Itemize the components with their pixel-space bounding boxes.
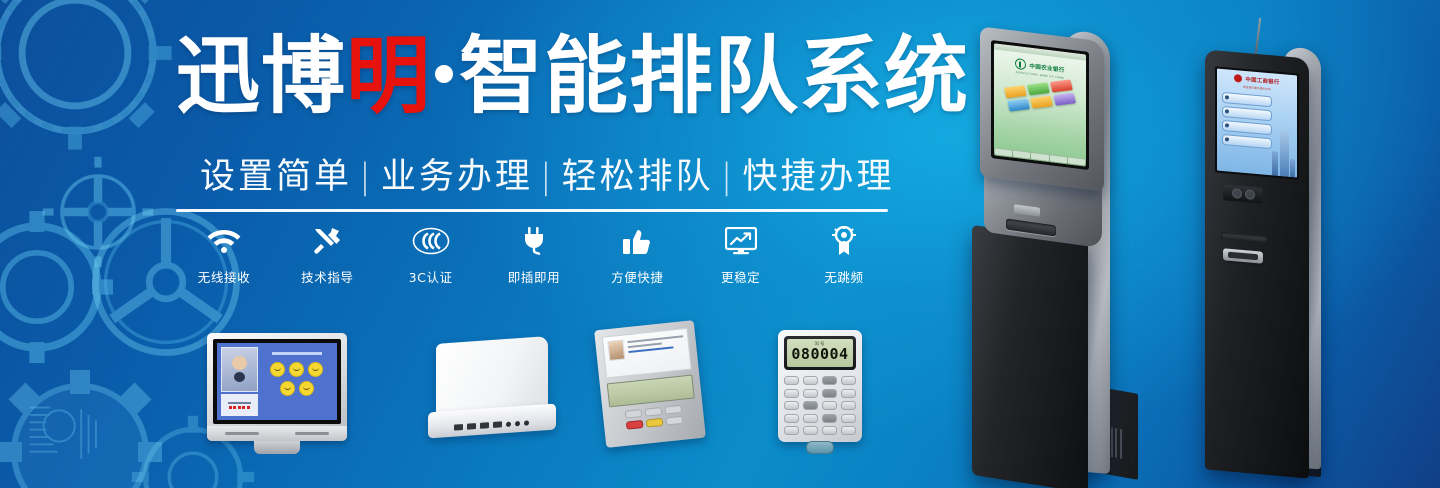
- product-evaluator: [600, 325, 700, 443]
- kiosk-icbc: 中国工商银行 请选择您要办理的业务: [1195, 18, 1385, 488]
- keypad-body: 叫号 080004: [778, 330, 862, 442]
- promo-banner: 迅博明智能排队系统 设置简单|业务办理|轻松排队|快捷办理 无线接收: [0, 0, 1440, 488]
- service-tile: [1004, 85, 1027, 98]
- monitor-rating-panel: [261, 347, 333, 416]
- monitor-nameplate: [221, 394, 258, 416]
- kiosk-menu-item: [1222, 106, 1272, 121]
- service-tile: [1030, 95, 1053, 108]
- monitor-screen-content: [217, 343, 337, 420]
- subtitle-item-2: 轻松排队: [562, 157, 714, 197]
- product-keypad: 叫号 080004: [778, 330, 862, 442]
- avatar: [221, 347, 258, 392]
- keypad-key: [841, 414, 856, 423]
- wifi-icon: [207, 224, 241, 258]
- kiosk-body: [972, 225, 1088, 488]
- evaluator-keypad: [610, 403, 698, 431]
- evaluator-id-card: [602, 328, 692, 379]
- keypad-key: [822, 376, 837, 385]
- keypad-key: [841, 426, 856, 435]
- evaluator-key: [644, 407, 662, 417]
- evaluator-key-yellow: [645, 418, 663, 428]
- keypad-lcd-value: 080004: [791, 347, 848, 363]
- keypad-key: [784, 401, 799, 410]
- smiley-icon: [308, 362, 323, 377]
- subtitle: 设置简单|业务办理|轻松排队|快捷办理: [200, 148, 900, 199]
- plug-icon: [521, 224, 547, 258]
- feature-label: 更稳定: [721, 267, 760, 286]
- feature-item-3c-certification: 3C认证: [383, 224, 479, 286]
- gear-icon: [0, 352, 180, 488]
- router-port: [480, 422, 489, 429]
- bank-name: 中国农业银行: [1029, 61, 1064, 73]
- feature-item-plug-and-play: 即插即用: [486, 224, 582, 286]
- subtitle-separator: |: [359, 157, 374, 197]
- keypad-key: [841, 401, 856, 410]
- subtitle-item-3: 快捷办理: [742, 157, 894, 197]
- bank-logo-mark: [1015, 58, 1026, 70]
- gear-icon: [0, 192, 132, 382]
- feature-label: 3C认证: [409, 267, 453, 286]
- smiley-icon: [289, 362, 304, 377]
- service-tile: [1053, 92, 1076, 105]
- monitor-id-panel: [221, 347, 258, 416]
- router-indicator: [506, 422, 511, 427]
- avatar: [607, 340, 625, 362]
- headline-highlight: 明: [346, 27, 431, 125]
- feature-list: 无线接收 技术指导 3C认证: [176, 224, 892, 290]
- kiosk-screen-content: 中国工商银行 请选择您要办理的业务: [1217, 69, 1297, 178]
- card-reader: [1223, 184, 1263, 203]
- router-port: [493, 421, 502, 428]
- kiosk-service-tiles: [1004, 79, 1076, 111]
- feature-label: 即插即用: [508, 267, 560, 286]
- smiley-icon: [299, 381, 314, 396]
- emoji-face-group: [264, 362, 330, 396]
- router-power-jack: [524, 420, 529, 425]
- kiosk-agricultural-bank: 中国农业银行 AGRICULTURAL BANK OF CHINA: [968, 22, 1168, 488]
- service-tile: [1027, 82, 1050, 95]
- keypad-key: [841, 389, 856, 398]
- bank-logo: 中国工商银行: [1234, 74, 1279, 86]
- antenna-icon: [1255, 18, 1261, 54]
- smiley-icon: [270, 362, 285, 377]
- monitor-base-bar: [207, 426, 347, 441]
- keypad-key: [803, 389, 818, 398]
- monitor-prompt-line: [272, 352, 322, 355]
- headline-separator-dot: [435, 65, 453, 83]
- feature-label: 技术指导: [301, 267, 353, 286]
- subtitle-separator: |: [540, 157, 555, 197]
- kiosk-screen: 中国工商银行 请选择您要办理的业务: [1215, 66, 1299, 179]
- router-panel: [436, 336, 548, 416]
- monitor-chart-icon: [725, 224, 757, 258]
- monitor-screen: [213, 339, 341, 424]
- evaluator-body: [594, 320, 706, 448]
- keypad-key: [784, 414, 799, 423]
- gear-icon: [38, 152, 158, 272]
- evaluator-key: [664, 405, 682, 415]
- bank-name: 中国工商银行: [1245, 75, 1279, 86]
- router-port: [454, 424, 463, 431]
- bank-subtitle: 请选择您要办理的业务: [1243, 85, 1271, 91]
- feature-item-wireless: 无线接收: [176, 224, 272, 286]
- headline-part1: 迅博: [176, 27, 346, 125]
- page-title: 迅博明智能排队系统: [176, 34, 916, 118]
- monitor-buttons-left: [225, 432, 259, 435]
- evaluator-key-red: [625, 420, 643, 430]
- keypad-row: [784, 389, 856, 398]
- feature-item-no-frequency-hopping: 无跳频: [796, 224, 892, 286]
- evaluator-key: [624, 409, 642, 419]
- evaluator-key: [665, 416, 683, 426]
- keypad-key: [803, 426, 818, 435]
- keypad-key: [803, 414, 818, 423]
- divider: [176, 209, 888, 212]
- kiosk-menu-list: [1222, 92, 1272, 149]
- service-tile: [1007, 98, 1030, 111]
- feature-label: 无线接收: [198, 267, 250, 286]
- skyline-graphic: [1272, 129, 1295, 177]
- rating-stars: [229, 406, 250, 409]
- keypad-enter-key: [806, 441, 834, 454]
- award-ribbon-icon: [832, 224, 856, 258]
- keypad-key: [803, 401, 818, 410]
- keypad-row: [784, 376, 856, 385]
- subtitle-separator: |: [721, 157, 736, 197]
- tools-icon: [312, 224, 342, 258]
- keypad-row: [784, 414, 856, 423]
- kiosk-screen: 中国农业银行 AGRICULTURAL BANK OF CHINA: [991, 40, 1089, 170]
- keypad-screen-frame: 叫号 080004: [784, 336, 856, 370]
- keypad-key: [841, 376, 856, 385]
- feature-item-stability: 更稳定: [693, 224, 789, 286]
- headline-part2: 智能排队系统: [459, 27, 969, 125]
- router-port: [467, 423, 476, 430]
- kiosk-menu-item: [1222, 134, 1272, 149]
- kiosk-menu-item: [1222, 120, 1272, 135]
- gear-icon: [0, 0, 190, 168]
- monitor-name-line: [228, 402, 250, 404]
- product-monitor: [207, 333, 347, 441]
- subtitle-item-1: 业务办理: [381, 157, 533, 197]
- keypad-key: [784, 426, 799, 435]
- ccc-certification-icon: [412, 224, 450, 258]
- feature-label: 方便快捷: [611, 267, 663, 286]
- router-indicator: [515, 421, 520, 426]
- evaluator-lcd: [607, 375, 695, 408]
- keypad-key: [822, 401, 837, 410]
- monitor-buttons-right: [295, 432, 329, 435]
- keypad-key: [822, 389, 837, 398]
- keypad-lcd: 叫号 080004: [787, 339, 853, 367]
- thumbs-up-icon: [622, 224, 652, 258]
- keypad-key: [784, 376, 799, 385]
- keypad-row: [784, 401, 856, 410]
- kiosk-screen-content: 中国农业银行 AGRICULTURAL BANK OF CHINA: [994, 43, 1086, 166]
- keypad-key: [784, 389, 799, 398]
- feature-item-technical-guidance: 技术指导: [279, 224, 375, 286]
- feature-item-convenient: 方便快捷: [589, 224, 685, 286]
- evaluator-card-text: [627, 333, 686, 371]
- kiosk-menu-item: [1222, 92, 1272, 107]
- keypad-row: [784, 426, 856, 435]
- product-router: [428, 340, 556, 440]
- monitor-stand: [254, 441, 300, 454]
- circuit-pattern-icon: [26, 398, 118, 480]
- keypad-key: [822, 414, 837, 423]
- smiley-icon: [280, 381, 295, 396]
- bank-logo-mark: [1234, 74, 1242, 83]
- keypad-key: [803, 376, 818, 385]
- subtitle-item-0: 设置简单: [200, 157, 352, 197]
- keypad-keys: [784, 376, 856, 435]
- feature-label: 无跳频: [824, 267, 863, 286]
- keypad-key: [822, 426, 837, 435]
- service-tile: [1050, 79, 1073, 92]
